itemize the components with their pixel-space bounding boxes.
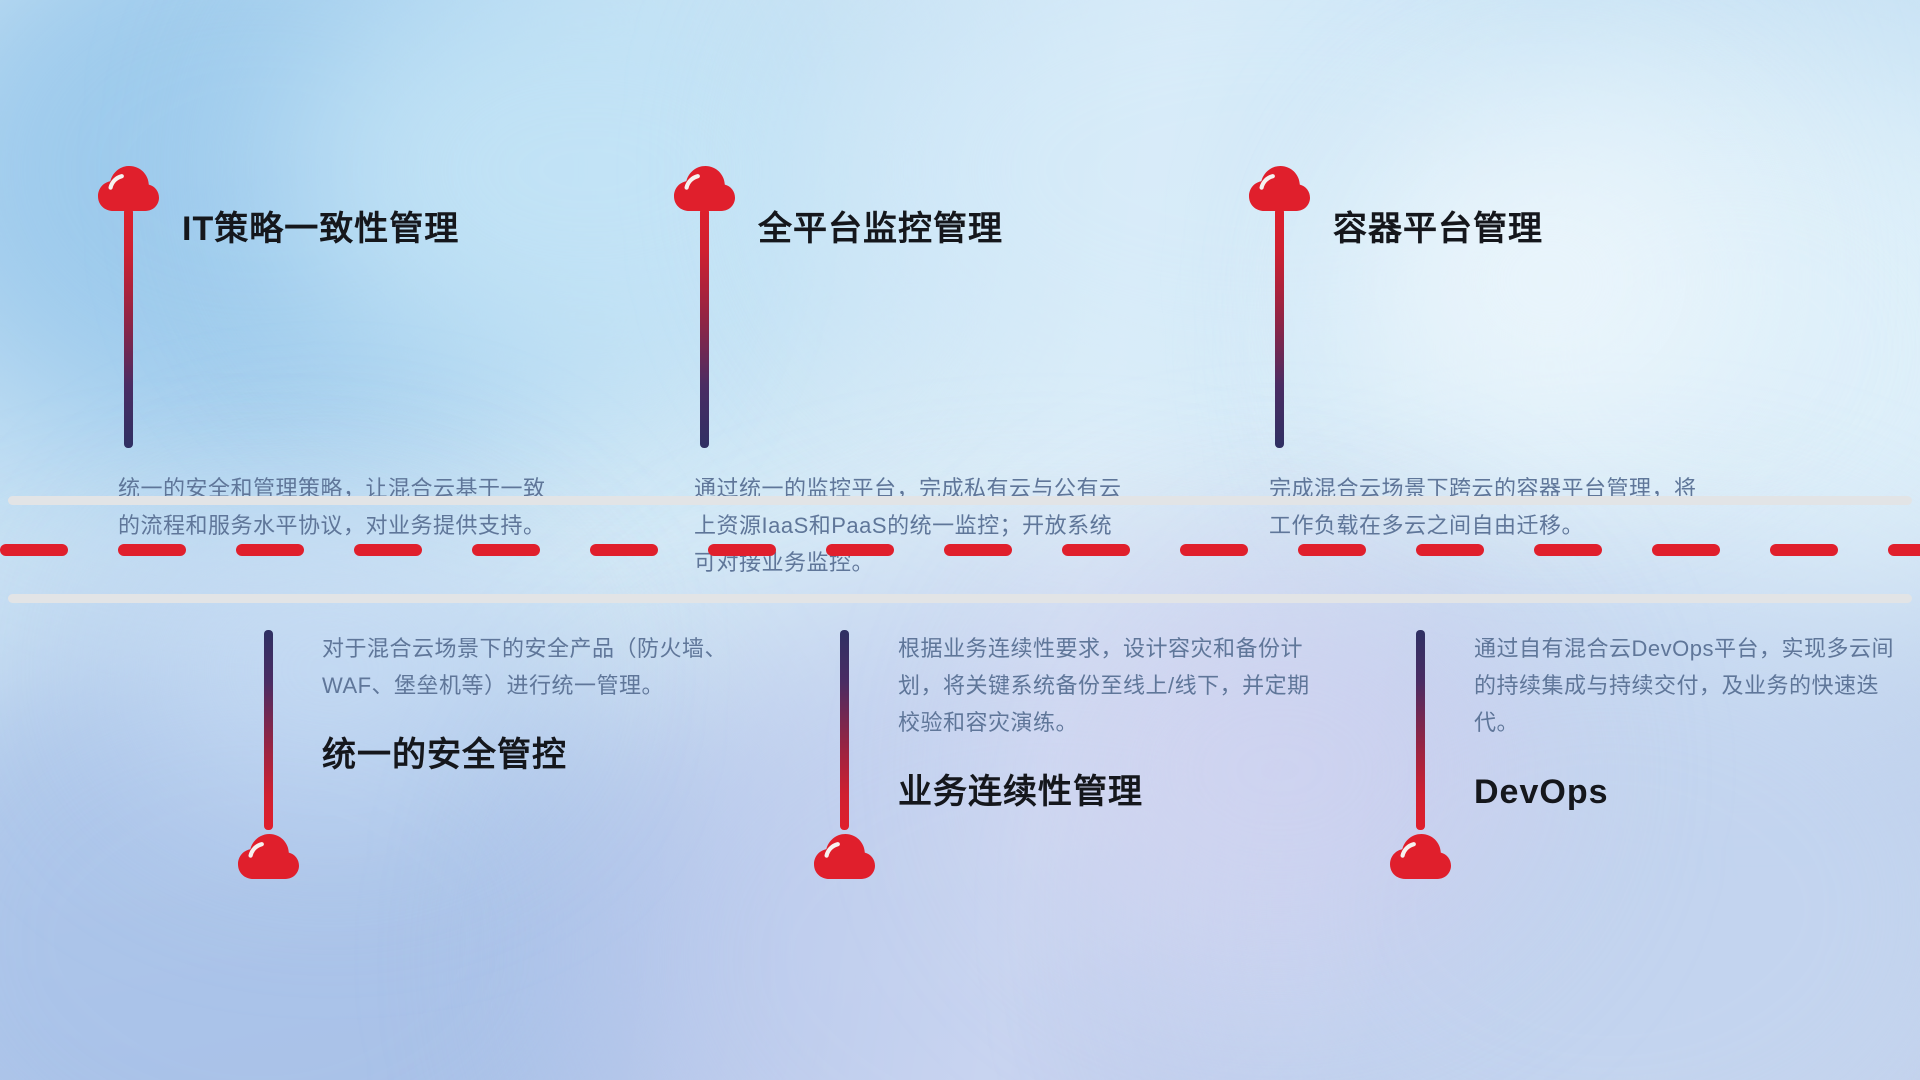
divider-dash bbox=[1888, 544, 1920, 556]
bottom-item-3-inner: 通过自有混合云DevOps平台，实现多云间的持续集成与持续交付，及业务的快速迭代… bbox=[1388, 630, 1904, 880]
divider-dash bbox=[354, 544, 422, 556]
red-cloud-icon bbox=[672, 160, 736, 212]
divider-dash bbox=[1298, 544, 1366, 556]
top-item-2: 全平台监控管理 通过统一的监控平台，完成私有云与公有云上资源IaaS和PaaS的… bbox=[672, 160, 1124, 581]
top-item-3-connector bbox=[1247, 160, 1311, 448]
bottom-item-2-body: 根据业务连续性要求，设计容灾和备份计划，将关键系统备份至线上/线下，并定期校验和… bbox=[898, 630, 1328, 741]
top-item-1-connector bbox=[96, 160, 160, 448]
bottom-item-2-text: 根据业务连续性要求，设计容灾和备份计划，将关键系统备份至线上/线下，并定期校验和… bbox=[898, 630, 1328, 809]
divider-dash bbox=[944, 544, 1012, 556]
divider-dash bbox=[236, 544, 304, 556]
top-item-1-head: IT策略一致性管理 bbox=[96, 160, 459, 448]
bottom-item-2-connector bbox=[812, 630, 876, 880]
infographic-stage: IT策略一致性管理 统一的安全和管理策略，让混合云基于一致的流程和服务水平协议，… bbox=[0, 0, 1920, 1080]
divider-dash bbox=[1062, 544, 1130, 556]
bottom-item-1-connector bbox=[236, 630, 300, 880]
divider-dash bbox=[826, 544, 894, 556]
bottom-item-1: 对于混合云场景下的安全产品（防火墙、WAF、堡垒机等）进行统一管理。 统一的安全… bbox=[236, 630, 752, 880]
bottom-item-2-stem bbox=[840, 630, 849, 830]
bottom-item-3-title: DevOps bbox=[1474, 775, 1904, 809]
bottom-item-1-title: 统一的安全管控 bbox=[322, 738, 752, 772]
red-cloud-icon bbox=[1247, 160, 1311, 212]
top-item-2-connector bbox=[672, 160, 736, 448]
red-cloud-icon bbox=[236, 828, 300, 880]
top-item-2-stem bbox=[700, 208, 709, 448]
divider-dash bbox=[1770, 544, 1838, 556]
top-item-3: 容器平台管理 完成混合云场景下跨云的容器平台管理，将工作负载在多云之间自由迁移。 bbox=[1247, 160, 1699, 544]
top-item-3-stem bbox=[1275, 208, 1284, 448]
red-cloud-icon bbox=[96, 160, 160, 212]
bottom-item-1-text: 对于混合云场景下的安全产品（防火墙、WAF、堡垒机等）进行统一管理。 统一的安全… bbox=[322, 630, 752, 772]
divider-dash bbox=[118, 544, 186, 556]
divider-rule-bottom bbox=[8, 594, 1912, 603]
bottom-item-3-connector bbox=[1388, 630, 1452, 880]
bottom-item-3-body: 通过自有混合云DevOps平台，实现多云间的持续集成与持续交付，及业务的快速迭代… bbox=[1474, 630, 1904, 741]
top-item-1: IT策略一致性管理 统一的安全和管理策略，让混合云基于一致的流程和服务水平协议，… bbox=[96, 160, 548, 544]
red-cloud-icon bbox=[1388, 828, 1452, 880]
divider-dash bbox=[0, 544, 68, 556]
divider-dash bbox=[1180, 544, 1248, 556]
divider-dash bbox=[1534, 544, 1602, 556]
top-item-2-title: 全平台监控管理 bbox=[758, 212, 1003, 246]
divider-dash bbox=[1416, 544, 1484, 556]
top-item-2-head: 全平台监控管理 bbox=[672, 160, 1003, 448]
bottom-item-2-inner: 根据业务连续性要求，设计容灾和备份计划，将关键系统备份至线上/线下，并定期校验和… bbox=[812, 630, 1328, 880]
bottom-item-3-stem bbox=[1416, 630, 1425, 830]
top-item-3-head: 容器平台管理 bbox=[1247, 160, 1543, 448]
bottom-item-1-stem bbox=[264, 630, 273, 830]
top-item-3-title: 容器平台管理 bbox=[1333, 212, 1543, 246]
bottom-item-2-title: 业务连续性管理 bbox=[898, 775, 1328, 809]
bottom-item-1-inner: 对于混合云场景下的安全产品（防火墙、WAF、堡垒机等）进行统一管理。 统一的安全… bbox=[236, 630, 752, 880]
top-item-3-body: 完成混合云场景下跨云的容器平台管理，将工作负载在多云之间自由迁移。 bbox=[1269, 470, 1699, 544]
bottom-item-1-body: 对于混合云场景下的安全产品（防火墙、WAF、堡垒机等）进行统一管理。 bbox=[322, 630, 752, 704]
top-item-2-body: 通过统一的监控平台，完成私有云与公有云上资源IaaS和PaaS的统一监控；开放系… bbox=[694, 470, 1124, 581]
top-item-1-title: IT策略一致性管理 bbox=[182, 212, 459, 246]
bottom-item-2: 根据业务连续性要求，设计容灾和备份计划，将关键系统备份至线上/线下，并定期校验和… bbox=[812, 630, 1328, 880]
divider-dash bbox=[1652, 544, 1720, 556]
red-cloud-icon bbox=[812, 828, 876, 880]
dashed-divider bbox=[0, 544, 1920, 556]
bottom-item-3: 通过自有混合云DevOps平台，实现多云间的持续集成与持续交付，及业务的快速迭代… bbox=[1388, 630, 1904, 880]
top-item-1-body: 统一的安全和管理策略，让混合云基于一致的流程和服务水平协议，对业务提供支持。 bbox=[118, 470, 548, 544]
divider-dash bbox=[590, 544, 658, 556]
divider-rule-top bbox=[8, 496, 1912, 505]
divider-dash bbox=[708, 544, 776, 556]
bottom-item-3-text: 通过自有混合云DevOps平台，实现多云间的持续集成与持续交付，及业务的快速迭代… bbox=[1474, 630, 1904, 809]
top-item-1-stem bbox=[124, 208, 133, 448]
divider-dash bbox=[472, 544, 540, 556]
